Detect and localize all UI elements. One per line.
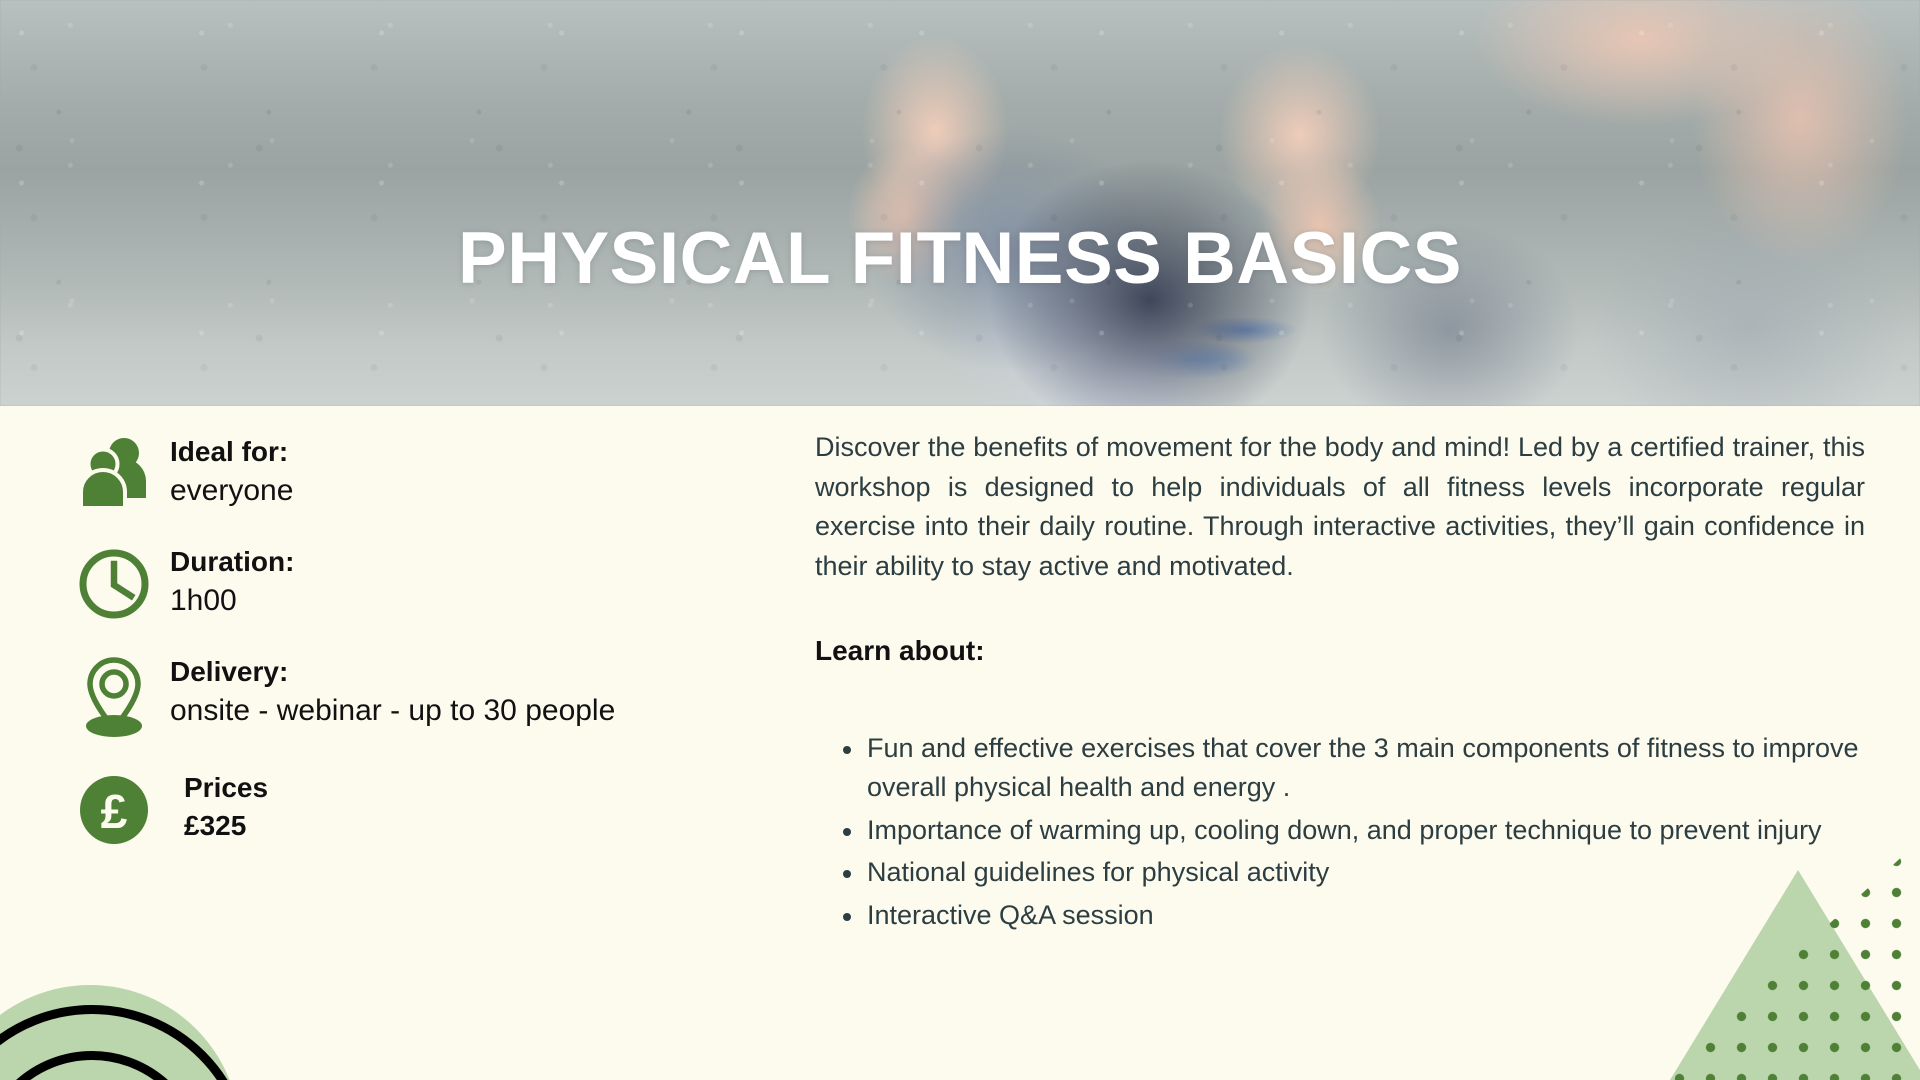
people-icon [66,432,162,512]
list-item: Fun and effective exercises that cover t… [815,729,1865,807]
pound-currency-icon: £ [66,768,162,848]
detail-row-ideal-for: Ideal for: everyone [66,432,706,512]
detail-text-delivery: Delivery: onsite - webinar - up to 30 pe… [162,652,615,731]
learn-about-heading: Learn about: [815,635,1865,667]
detail-label-duration: Duration: [170,544,294,581]
detail-label-prices: Prices [184,770,268,807]
course-details-list: Ideal for: everyone Duration: 1h00 [66,432,706,848]
detail-value-delivery: onsite - webinar - up to 30 people [170,691,615,731]
hero-banner: PHYSICAL FITNESS BASICS [0,0,1920,406]
svg-text:£: £ [101,786,128,839]
detail-row-prices: £ Prices £325 [66,768,706,848]
list-item: Importance of warming up, cooling down, … [815,811,1865,850]
detail-text-duration: Duration: 1h00 [162,542,294,621]
detail-row-delivery: Delivery: onsite - webinar - up to 30 pe… [66,652,706,738]
detail-value-duration: 1h00 [170,581,294,621]
detail-label-ideal-for: Ideal for: [170,434,293,471]
page-title: PHYSICAL FITNESS BASICS [0,222,1920,295]
course-flyer-page: PHYSICAL FITNESS BASICS Ideal for: every… [0,0,1920,1080]
description-paragraph: Discover the benefits of movement for th… [815,428,1865,587]
detail-text-ideal-for: Ideal for: everyone [162,432,293,511]
hero-photo-texture [0,0,1920,406]
course-description: Discover the benefits of movement for th… [815,428,1865,939]
detail-label-delivery: Delivery: [170,654,615,691]
content-area: Ideal for: everyone Duration: 1h00 [0,406,1920,1080]
detail-row-duration: Duration: 1h00 [66,542,706,622]
location-pin-icon [66,652,162,738]
detail-value-prices: £325 [184,807,268,845]
clock-icon [66,542,162,622]
decorative-concentric-arcs [0,1005,302,1080]
detail-text-prices: Prices £325 [162,768,268,844]
detail-value-ideal-for: everyone [170,471,293,511]
